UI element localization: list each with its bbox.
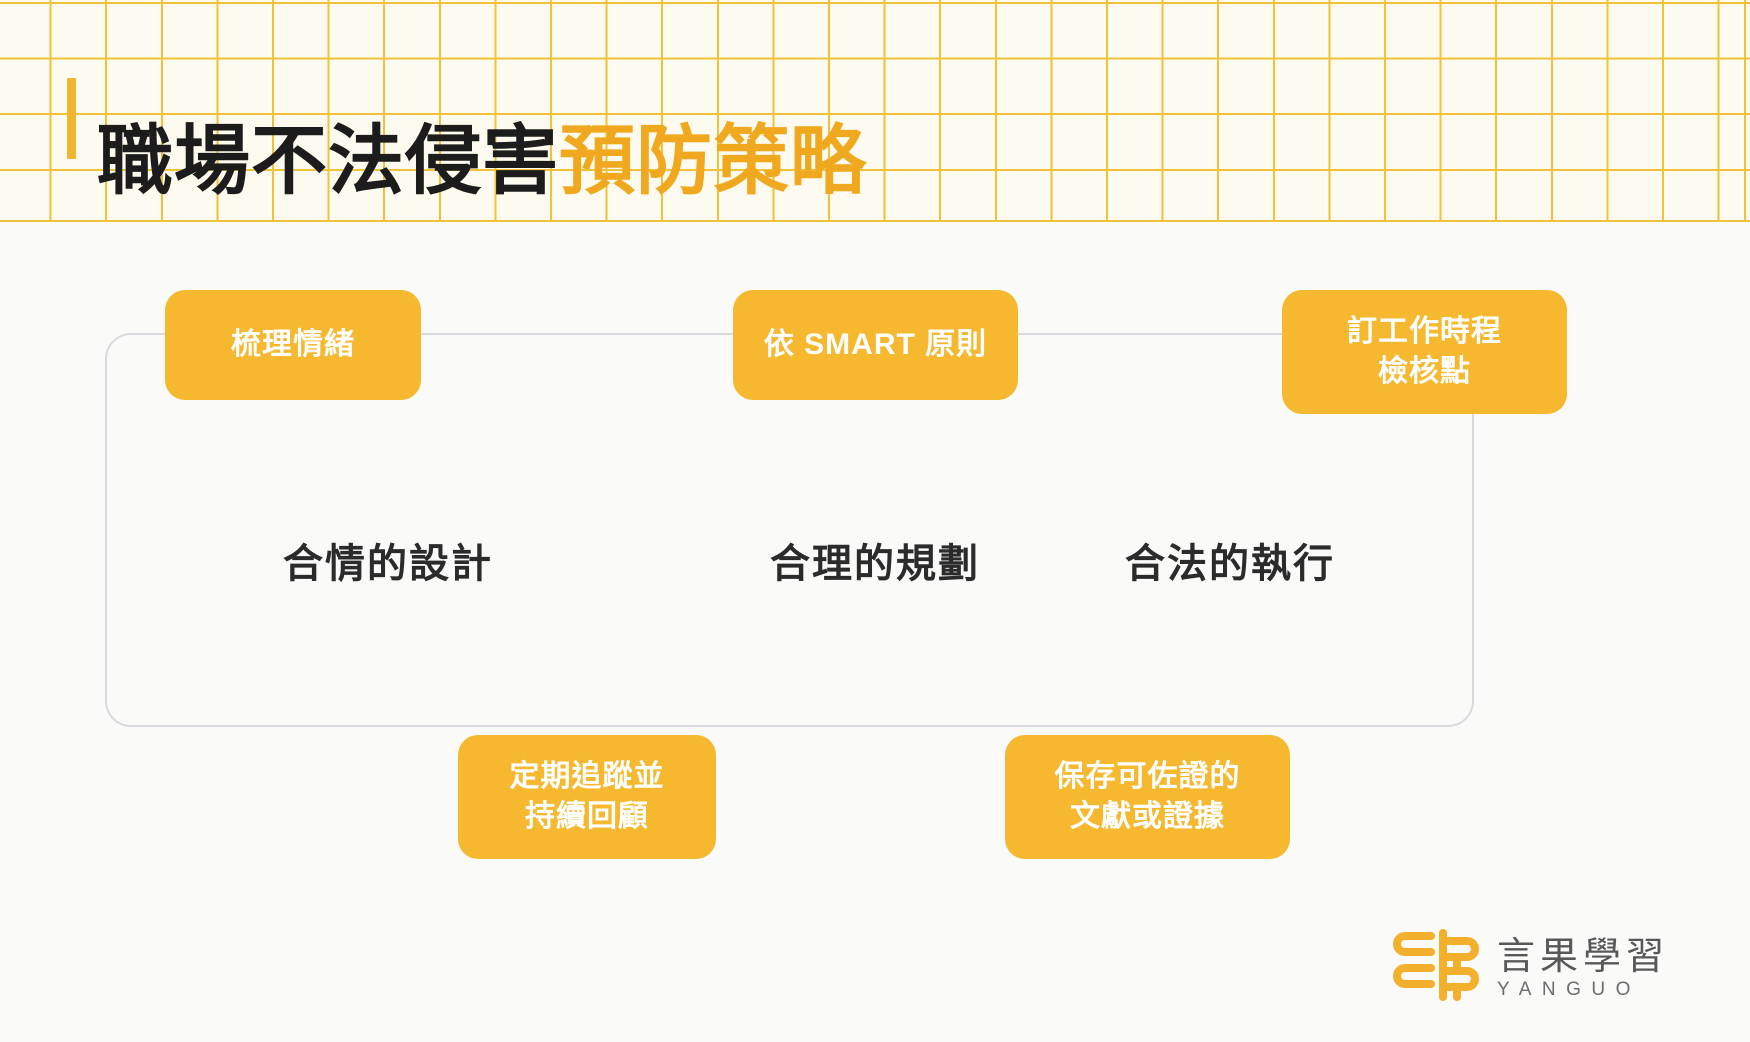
chip-bottom-1[interactable]: 定期追蹤並 持續回顧	[458, 735, 716, 859]
chip-top-1[interactable]: 梳理情緒	[165, 290, 421, 400]
chip-top-1-line1: 梳理情緒	[231, 325, 355, 365]
title-accent-bar	[67, 78, 76, 159]
chip-top-3-line1: 訂工作時程	[1347, 312, 1502, 352]
chip-bottom-1-line1: 定期追蹤並	[510, 757, 665, 797]
page-title: 職場不法侵害預防策略	[97, 108, 867, 216]
header-bottom-rule	[0, 220, 1750, 222]
chip-top-3-line2: 檢核點	[1378, 352, 1471, 392]
yanguo-mark-icon	[1393, 927, 1479, 1010]
stage-label-2: 合理的規劃	[730, 530, 1020, 590]
chip-bottom-1-line2: 持續回顧	[525, 797, 649, 837]
chip-bottom-2-line2: 文獻或證據	[1070, 797, 1225, 837]
stage-label-3: 合法的執行	[1060, 530, 1400, 590]
page-title-primary: 職場不法侵害	[97, 124, 559, 200]
chip-top-2[interactable]: 依 SMART 原則	[733, 290, 1018, 400]
stage-label-3-text: 合法的執行	[1125, 531, 1335, 589]
brand-logo: 言果學習 YANGUO	[1393, 920, 1703, 1016]
logo-text-block: 言果學習 YANGUO	[1497, 938, 1669, 999]
stage-label-1: 合情的設計	[243, 530, 533, 590]
chip-bottom-2[interactable]: 保存可佐證的 文獻或證據	[1005, 735, 1290, 859]
chip-top-2-line1: 依 SMART 原則	[764, 325, 987, 365]
chip-top-3[interactable]: 訂工作時程 檢核點	[1282, 290, 1567, 414]
slide-root: 職場不法侵害預防策略 梳理情緒 依 SMART 原則 訂工作時程 檢核點 合情的…	[0, 0, 1750, 1042]
logo-english-name: YANGUO	[1497, 980, 1669, 999]
page-title-accent: 預防策略	[559, 124, 867, 200]
stage-label-2-text: 合理的規劃	[770, 531, 980, 589]
logo-chinese-name: 言果學習	[1497, 938, 1669, 976]
stage-label-1-text: 合情的設計	[283, 531, 493, 589]
chip-bottom-2-line1: 保存可佐證的	[1055, 757, 1241, 797]
